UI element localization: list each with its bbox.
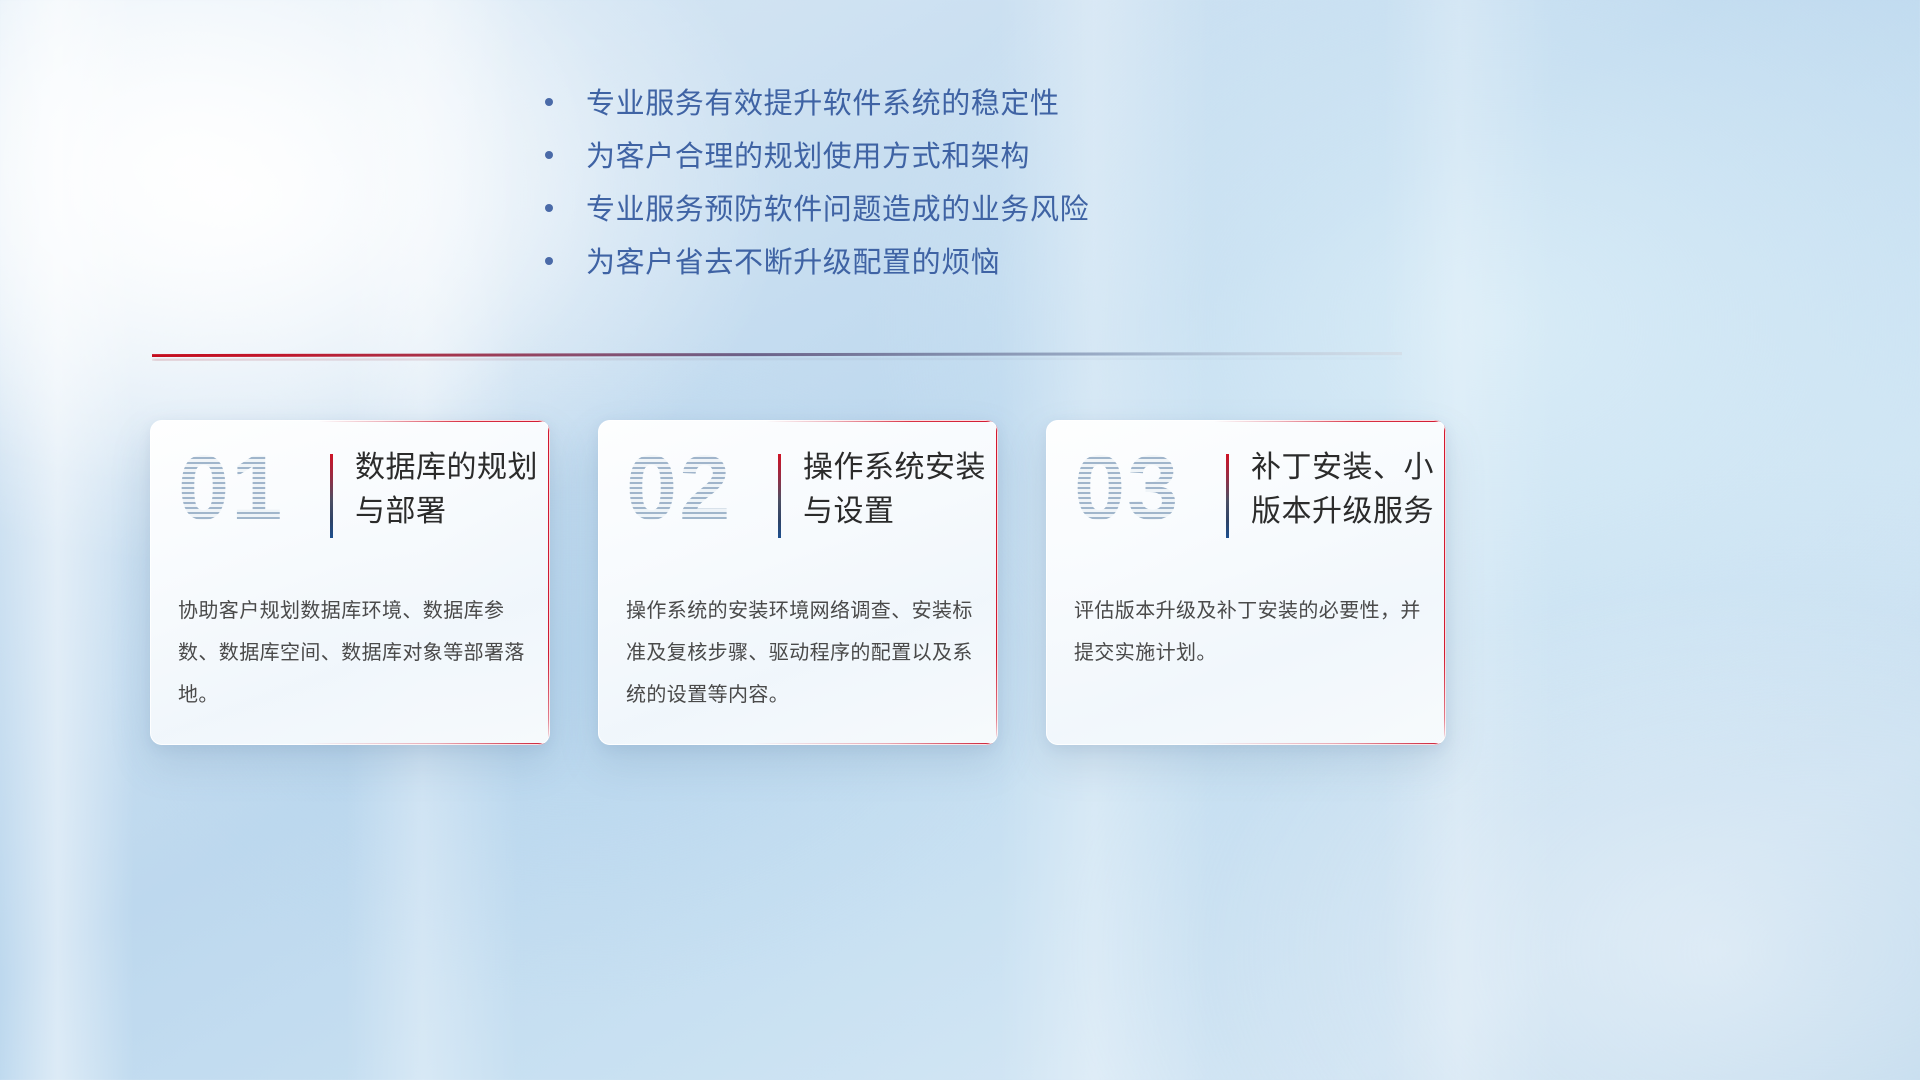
card-description: 操作系统的安装环境网络调查、安装标准及复核步骤、驱动程序的配置以及系统的设置等内… <box>626 590 976 716</box>
card-title-separator <box>1226 454 1229 538</box>
card-accent-bottom <box>750 743 998 745</box>
section-divider <box>152 348 1402 364</box>
card-title: 操作系统安装与设置 <box>803 446 993 534</box>
card-header: 01 01 数据库的规划与部署 <box>150 420 550 570</box>
bullet-item: 专业服务预防软件问题造成的业务风险 <box>545 192 1305 228</box>
card-title: 补丁安装、小版本升级服务 <box>1251 446 1441 534</box>
service-card[interactable]: 02 02 操作系统安装与设置 操作系统的安装环境网络调查、安装标准及复核步骤、… <box>598 420 998 745</box>
bullet-text: 为客户省去不断升级配置的烦恼 <box>586 245 1000 281</box>
service-card-list: 01 01 数据库的规划与部署 协助客户规划数据库环境、数据库参数、数据库空间、… <box>150 420 1446 745</box>
card-title-separator <box>778 454 781 538</box>
card-title: 数据库的规划与部署 <box>355 446 545 534</box>
card-number-watermark: 01 <box>178 442 284 534</box>
card-header: 02 02 操作系统安装与设置 <box>598 420 998 570</box>
card-accent-bottom <box>1198 743 1446 745</box>
bullet-text: 专业服务预防软件问题造成的业务风险 <box>586 192 1089 228</box>
service-card[interactable]: 01 01 数据库的规划与部署 协助客户规划数据库环境、数据库参数、数据库空间、… <box>150 420 550 745</box>
bullet-text: 为客户合理的规划使用方式和架构 <box>586 139 1030 175</box>
bullet-dot-icon <box>545 257 553 265</box>
card-number-watermark: 02 <box>626 442 732 534</box>
bullet-dot-icon <box>545 98 553 106</box>
bullet-text: 专业服务有效提升软件系统的稳定性 <box>586 86 1060 122</box>
bullet-dot-icon <box>545 204 553 212</box>
bullet-item: 为客户合理的规划使用方式和架构 <box>545 139 1305 175</box>
service-card[interactable]: 03 03 补丁安装、小版本升级服务 评估版本升级及补丁安装的必要性，并提交实施… <box>1046 420 1446 745</box>
card-description: 评估版本升级及补丁安装的必要性，并提交实施计划。 <box>1074 590 1424 674</box>
card-accent-bottom <box>302 743 550 745</box>
benefits-bullet-list: 专业服务有效提升软件系统的稳定性 为客户合理的规划使用方式和架构 专业服务预防软… <box>545 86 1305 298</box>
bullet-item: 为客户省去不断升级配置的烦恼 <box>545 245 1305 281</box>
card-header: 03 03 补丁安装、小版本升级服务 <box>1046 420 1446 570</box>
card-title-separator <box>330 454 333 538</box>
divider-shadow <box>152 357 1402 361</box>
bullet-dot-icon <box>545 151 553 159</box>
card-number-watermark: 03 <box>1074 442 1180 534</box>
bullet-item: 专业服务有效提升软件系统的稳定性 <box>545 86 1305 122</box>
divider-line <box>152 352 1402 357</box>
card-description: 协助客户规划数据库环境、数据库参数、数据库空间、数据库对象等部署落地。 <box>178 590 528 716</box>
